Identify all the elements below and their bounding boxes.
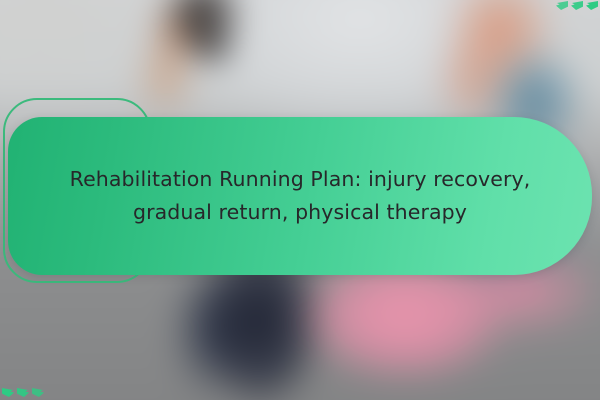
banner-container: Rehabilitation Running Plan: injury reco… [0, 0, 600, 400]
title-card: Rehabilitation Running Plan: injury reco… [8, 117, 592, 275]
page-title-line-2: gradual return, physical therapy [133, 200, 467, 224]
page-title: Rehabilitation Running Plan: injury reco… [50, 163, 550, 229]
page-title-line-1: Rehabilitation Running Plan: injury reco… [70, 167, 531, 191]
